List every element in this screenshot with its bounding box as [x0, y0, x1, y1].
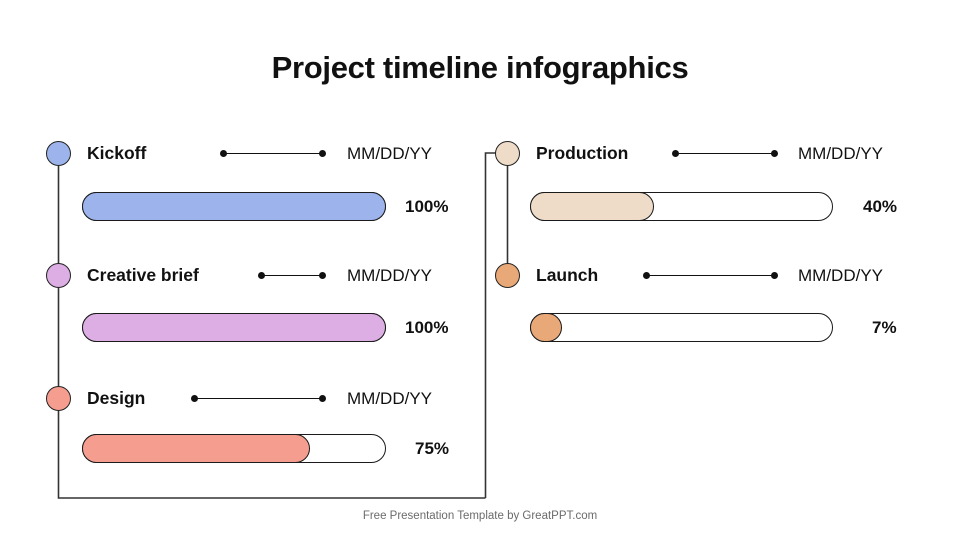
progress-percent-creative-brief: 100%	[405, 313, 448, 342]
milestone-date-design: MM/DD/YY	[347, 387, 432, 410]
date-connector-design	[191, 395, 326, 403]
slide-canvas: Project timeline infographics Kickoff MM…	[0, 0, 960, 540]
milestone-node-circle-production	[495, 141, 520, 166]
date-connector-line	[224, 153, 322, 154]
progress-percent-design: 75%	[415, 434, 449, 463]
connector-right-spine	[486, 153, 501, 498]
milestone-node-circle-creative-brief	[46, 263, 71, 288]
date-connector-kickoff	[220, 150, 326, 158]
date-connector-dot-right	[319, 272, 326, 279]
date-connector-dot-right	[771, 150, 778, 157]
progress-track-kickoff[interactable]	[82, 192, 386, 221]
date-connector-dot-right	[771, 272, 778, 279]
milestone-label-launch: Launch	[536, 264, 598, 287]
milestone-date-launch: MM/DD/YY	[798, 264, 883, 287]
date-connector-dot-left	[672, 150, 679, 157]
milestone-date-production: MM/DD/YY	[798, 142, 883, 165]
milestone-date-creative-brief: MM/DD/YY	[347, 264, 432, 287]
milestone-node-circle-design	[46, 386, 71, 411]
date-connector-dot-left	[191, 395, 198, 402]
date-connector-line	[262, 275, 322, 276]
milestone-label-creative-brief: Creative brief	[87, 264, 199, 287]
progress-percent-launch: 7%	[872, 313, 897, 342]
page-title: Project timeline infographics	[0, 50, 960, 86]
date-connector-dot-right	[319, 395, 326, 402]
date-connector-production	[672, 150, 778, 158]
progress-fill-launch	[530, 313, 562, 342]
progress-fill-production	[530, 192, 654, 221]
footer-credit: Free Presentation Template by GreatPPT.c…	[0, 510, 960, 522]
milestone-node-circle-launch	[495, 263, 520, 288]
progress-fill-design	[82, 434, 310, 463]
progress-track-launch[interactable]	[530, 313, 833, 342]
milestone-label-kickoff: Kickoff	[87, 142, 146, 165]
progress-percent-production: 40%	[863, 192, 897, 221]
date-connector-launch	[643, 272, 778, 280]
date-connector-dot-right	[319, 150, 326, 157]
milestone-label-production: Production	[536, 142, 628, 165]
progress-fill-creative-brief	[82, 313, 386, 342]
progress-track-production[interactable]	[530, 192, 833, 221]
date-connector-dot-left	[258, 272, 265, 279]
milestone-node-circle-kickoff	[46, 141, 71, 166]
milestone-date-kickoff: MM/DD/YY	[347, 142, 432, 165]
progress-track-creative-brief[interactable]	[82, 313, 386, 342]
date-connector-line	[647, 275, 774, 276]
date-connector-line	[676, 153, 774, 154]
milestone-label-design: Design	[87, 387, 145, 410]
date-connector-dot-left	[220, 150, 227, 157]
progress-percent-kickoff: 100%	[405, 192, 448, 221]
progress-fill-kickoff	[82, 192, 386, 221]
progress-track-design[interactable]	[82, 434, 386, 463]
date-connector-creative-brief	[258, 272, 326, 280]
date-connector-line	[195, 398, 322, 399]
date-connector-dot-left	[643, 272, 650, 279]
